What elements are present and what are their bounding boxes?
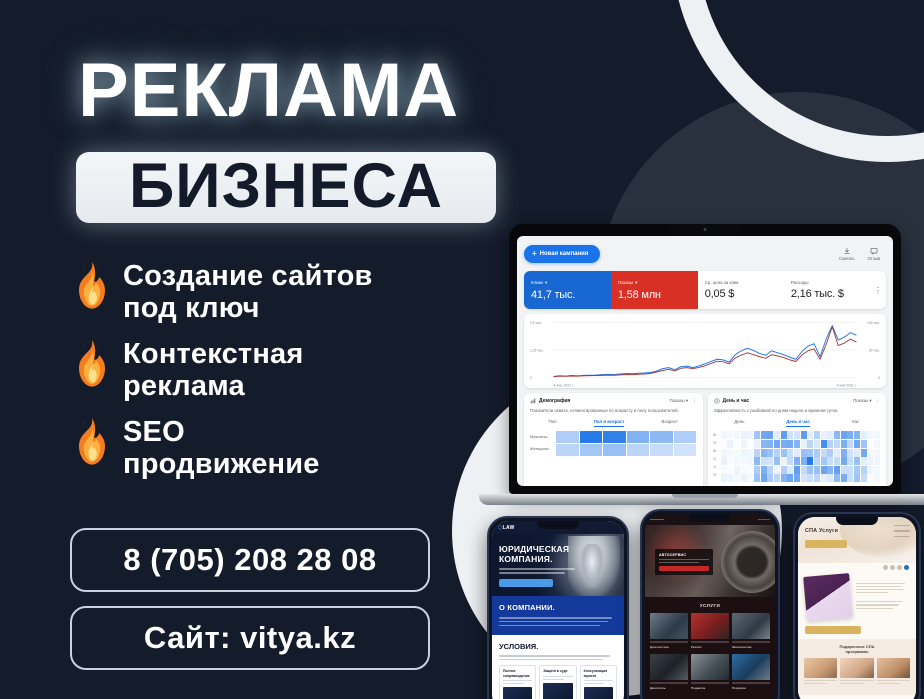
- heatmap-cell[interactable]: [767, 440, 773, 448]
- heatmap-cell[interactable]: [874, 457, 880, 465]
- heatmap-row-label: В: [714, 447, 721, 455]
- heatmap-cell[interactable]: [767, 431, 773, 439]
- heatmap-row: [721, 474, 881, 482]
- law-site-screen: ⬡LAW ЮРИДИЧЕСКАЯКОМПАНИЯ. О КОМПАНИИ. УС…: [492, 521, 624, 699]
- heatmap-cell[interactable]: [814, 449, 820, 457]
- feature-item-contextual-ads: Контекстнаяреклама: [70, 336, 490, 403]
- download-button[interactable]: Скачать: [839, 247, 855, 261]
- heatmap-cell[interactable]: [734, 466, 740, 474]
- heatmap-cell[interactable]: [834, 457, 840, 465]
- demographics-grid: Мужчины Женщины: [530, 431, 697, 457]
- heatmap-cell[interactable]: [861, 440, 867, 448]
- heatmap-cell[interactable]: [801, 431, 807, 439]
- auto-site-hero-button[interactable]: [659, 566, 709, 571]
- auto-site-tile[interactable]: Ремонт: [691, 613, 729, 649]
- heatmap-cell[interactable]: [721, 440, 727, 448]
- heatmap-row-labels: ВПВСЧП: [714, 431, 721, 483]
- law-site-card-title: Защита в суде: [543, 669, 572, 673]
- heatmap-cell[interactable]: [727, 440, 733, 448]
- law-site-logo: ⬡LAW: [498, 525, 515, 531]
- heatmap-cell[interactable]: [774, 449, 780, 457]
- heatmap-cell[interactable]: [814, 474, 820, 482]
- heatmap-cell[interactable]: [854, 457, 860, 465]
- heatmap-cell[interactable]: [781, 457, 787, 465]
- heatmap-cell[interactable]: [801, 457, 807, 465]
- spa-site-screen: СПА Услуги: [798, 517, 916, 699]
- heatmap-cell[interactable]: [821, 440, 827, 448]
- heatmap-cell[interactable]: [774, 457, 780, 465]
- heatmap-cell[interactable]: [767, 466, 773, 474]
- heatmap-cell[interactable]: [781, 431, 787, 439]
- heatmap-cell[interactable]: [794, 457, 800, 465]
- phone-body: СПА Услуги: [793, 512, 921, 699]
- auto-site-tile[interactable]: Шиномонтаж: [732, 613, 770, 649]
- auto-site-tile-row: Диагностика Ремонт Шиномонтаж: [650, 613, 770, 649]
- heatmap-cell[interactable]: [861, 474, 867, 482]
- kpi-card-row: Клики▾ 41,7 тыс. Показы▾ 1,58 млн Ср. це…: [524, 271, 886, 309]
- demographics-cell[interactable]: [580, 431, 603, 443]
- heatmap-cell[interactable]: [814, 466, 820, 474]
- social-icon[interactable]: [897, 565, 902, 570]
- demographics-cell[interactable]: [650, 431, 673, 443]
- tab-age[interactable]: Возраст: [662, 419, 678, 427]
- law-site-hero-subtext: [499, 568, 617, 574]
- panel-demographics-controls: Показы ▾ ⋮: [669, 398, 696, 404]
- demographics-cell[interactable]: [674, 444, 697, 456]
- heatmap-cell[interactable]: [741, 440, 747, 448]
- heatmap-cell[interactable]: [874, 449, 880, 457]
- heatmap-cell[interactable]: [761, 457, 767, 465]
- laptop-mockup: + Новая кампания Скачать: [509, 224, 924, 505]
- law-site-conditions-text: [499, 655, 617, 660]
- heatmap-cell[interactable]: [847, 466, 853, 474]
- heatmap-row: [721, 466, 881, 474]
- spa-site-tile[interactable]: [840, 658, 873, 690]
- phone-button[interactable]: 8 (705) 208 28 08: [70, 528, 430, 592]
- kpi-more-button[interactable]: ⋮: [870, 271, 886, 309]
- line-chart-card: 2,5 тыс.1,25 тыс.0100 тыс.50 тыс.04 янв.…: [524, 314, 886, 388]
- demographics-cells: [556, 431, 697, 457]
- heatmap-row: [721, 440, 881, 448]
- heatmap-cell[interactable]: [854, 431, 860, 439]
- law-site-hero-title: ЮРИДИЧЕСКАЯКОМПАНИЯ.: [499, 544, 617, 564]
- heatmap-cell[interactable]: [807, 474, 813, 482]
- heatmap-cell[interactable]: [727, 449, 733, 457]
- heatmap-cell[interactable]: [847, 449, 853, 457]
- heatmap-cell[interactable]: [794, 449, 800, 457]
- feature-item-seo: SEOпродвижение: [70, 414, 490, 481]
- heatmap-cell[interactable]: [761, 431, 767, 439]
- heatmap-cell[interactable]: [741, 466, 747, 474]
- phone-mockup-law: ⬡LAW ЮРИДИЧЕСКАЯКОМПАНИЯ. О КОМПАНИИ. УС…: [487, 516, 629, 699]
- dashboard-top-actions: Скачать Отзыв: [839, 247, 880, 261]
- demographics-cell[interactable]: [603, 431, 626, 443]
- auto-site-logo: [650, 519, 664, 521]
- heatmap-cell[interactable]: [761, 449, 767, 457]
- kpi-impressions[interactable]: Показы▾ 1,58 млн: [611, 271, 698, 309]
- left-content-column: РЕКЛАМА БИЗНЕСА Создание сайтовпод ключ: [0, 0, 500, 699]
- heatmap-cell[interactable]: [874, 466, 880, 474]
- heatmap-cell[interactable]: [761, 440, 767, 448]
- heatmap-cell[interactable]: [821, 466, 827, 474]
- heatmap-cell[interactable]: [847, 457, 853, 465]
- feature-label: Создание сайтовпод ключ: [123, 258, 373, 325]
- auto-site-tile-thumb: [691, 613, 729, 639]
- tab-day[interactable]: День: [734, 419, 744, 427]
- demographics-cell[interactable]: [556, 431, 579, 443]
- heatmap-cell[interactable]: [787, 449, 793, 457]
- heatmap-cell[interactable]: [787, 466, 793, 474]
- demographics-row: [556, 444, 697, 456]
- new-campaign-button[interactable]: + Новая кампания: [524, 245, 600, 263]
- panel-demographics-head: Демография Показы ▾ ⋮: [530, 398, 697, 404]
- heatmap-cell[interactable]: [847, 431, 853, 439]
- spa-feature-heading: [856, 577, 909, 581]
- auto-site-tile-label: Покраска: [732, 686, 770, 690]
- phone-number: 8 (705) 208 28 08: [123, 542, 376, 578]
- heatmap-cell[interactable]: [821, 474, 827, 482]
- tab-gender[interactable]: Пол: [549, 419, 557, 427]
- heatmap-cell[interactable]: [734, 431, 740, 439]
- heatmap-cell[interactable]: [841, 466, 847, 474]
- heatmap-cell[interactable]: [827, 431, 833, 439]
- svg-text:100 тыс.: 100 тыс.: [867, 321, 880, 325]
- phone-notch: [537, 521, 579, 529]
- laptop-lid: + Новая кампания Скачать: [509, 224, 901, 494]
- heatmap-cell[interactable]: [827, 449, 833, 457]
- heatmap-cell[interactable]: [754, 466, 760, 474]
- auto-site-section-title: УСЛУГИ: [650, 603, 770, 608]
- heatmap-cell[interactable]: [747, 449, 753, 457]
- heatmap-cell[interactable]: [781, 449, 787, 457]
- heatmap-cell[interactable]: [727, 431, 733, 439]
- phone-notch: [836, 517, 878, 525]
- heatmap-cell[interactable]: [827, 440, 833, 448]
- heatmap-cell[interactable]: [867, 457, 873, 465]
- heatmap-cell[interactable]: [874, 431, 880, 439]
- spa-site-hero-title: СПА Услуги: [805, 528, 909, 534]
- heatmap-cell[interactable]: [861, 457, 867, 465]
- heatmap-cell[interactable]: [747, 431, 753, 439]
- kpi-impressions-value: 1,58 млн: [618, 289, 691, 301]
- tab-gender-age[interactable]: Пол и возраст: [594, 419, 625, 427]
- heatmap-cell[interactable]: [747, 440, 753, 448]
- heatmap-cell[interactable]: [727, 474, 733, 482]
- heatmap-cell[interactable]: [787, 440, 793, 448]
- kpi-clicks[interactable]: Клики▾ 41,7 тыс.: [524, 271, 611, 309]
- heatmap-cell[interactable]: [761, 466, 767, 474]
- auto-site-tile-label: Двигатель: [650, 686, 688, 690]
- spa-site-tile-label: [840, 686, 873, 690]
- heatmap-cell[interactable]: [834, 466, 840, 474]
- heatmap-cell[interactable]: [781, 466, 787, 474]
- demographics-cell[interactable]: [556, 444, 579, 456]
- heatmap-cell[interactable]: [721, 474, 727, 482]
- heatmap-cell[interactable]: [841, 457, 847, 465]
- heatmap-cell[interactable]: [741, 449, 747, 457]
- heatmap-cell[interactable]: [801, 440, 807, 448]
- new-campaign-label: Новая кампания: [540, 251, 589, 257]
- download-icon: [843, 247, 851, 255]
- auto-site-hero: АВТОСЕРВИС: [645, 525, 775, 597]
- heatmap-cell[interactable]: [807, 457, 813, 465]
- heatmap-cell[interactable]: [767, 474, 773, 482]
- laptop-camera-icon: [704, 228, 707, 231]
- heatmap-cell[interactable]: [747, 466, 753, 474]
- heatmap-cell[interactable]: [754, 474, 760, 482]
- heatmap-cell[interactable]: [741, 474, 747, 482]
- heatmap-cell[interactable]: [721, 449, 727, 457]
- spa-site-secondary-button[interactable]: [805, 626, 861, 634]
- heatmap-cell[interactable]: [721, 457, 727, 465]
- heatmap-cell[interactable]: [727, 457, 733, 465]
- heatmap-cell[interactable]: [814, 457, 820, 465]
- heatmap-cell[interactable]: [761, 474, 767, 482]
- demographics-cell[interactable]: [650, 444, 673, 456]
- heatmap-cell[interactable]: [827, 466, 833, 474]
- kpi-avg-cpc-label: Ср. цена за клик: [705, 280, 777, 285]
- heatmap: ВПВСЧП: [714, 431, 881, 483]
- auto-site-tile[interactable]: Диагностика: [650, 613, 688, 649]
- svg-text:4 янв. 2021 г.: 4 янв. 2021 г.: [554, 383, 574, 387]
- auto-site-tile-thumb: [650, 613, 688, 639]
- laptop-base-notch: [672, 494, 738, 498]
- heatmap-cell[interactable]: [807, 466, 813, 474]
- panel-demographics-title-row: Демография: [530, 398, 570, 404]
- auto-site-tile-label: Подвеска: [691, 686, 729, 690]
- social-icon[interactable]: [904, 565, 909, 570]
- site-url: Сайт: vitya.kz: [144, 620, 356, 656]
- auto-site-tile[interactable]: Покраска: [732, 654, 770, 690]
- heatmap-cell[interactable]: [747, 474, 753, 482]
- auto-site-tile[interactable]: Подвеска: [691, 654, 729, 690]
- heatmap-cell[interactable]: [854, 449, 860, 457]
- heatmap-cell[interactable]: [847, 474, 853, 482]
- auto-site-tile-thumb: [732, 613, 770, 639]
- heatmap-cell[interactable]: [787, 431, 793, 439]
- heatmap-cell[interactable]: [834, 449, 840, 457]
- heatmap-cell[interactable]: [754, 440, 760, 448]
- laptop-base: [479, 494, 924, 505]
- law-site-card-list: Полное сопровождение Защита в суде Консу…: [499, 665, 617, 699]
- panel-day-hour-title: День и час: [723, 398, 750, 404]
- spa-site-tile-label: [804, 686, 837, 690]
- social-icon[interactable]: [890, 565, 895, 570]
- heatmap-cell[interactable]: [861, 466, 867, 474]
- auto-site-tile-label: Диагностика: [650, 645, 688, 649]
- heatmap-cell[interactable]: [841, 474, 847, 482]
- panel-day-hour-more[interactable]: ⋮: [876, 398, 880, 404]
- heatmap-cell[interactable]: [861, 431, 867, 439]
- heatmap-cell[interactable]: [854, 466, 860, 474]
- heatmap-cell[interactable]: [741, 457, 747, 465]
- heatmap-cell[interactable]: [794, 431, 800, 439]
- law-site-about-title: О КОМПАНИИ.: [499, 603, 617, 612]
- heatmap-cell[interactable]: [787, 474, 793, 482]
- heatmap-cell[interactable]: [807, 449, 813, 457]
- heatmap-row-label: П: [714, 471, 721, 479]
- panel-day-hour-metric[interactable]: Показы ▾: [853, 398, 872, 404]
- auto-site-tile-row: Двигатель Подвеска Покраска: [650, 654, 770, 690]
- heatmap-cell[interactable]: [721, 431, 727, 439]
- auto-site-tile-label: Ремонт: [691, 645, 729, 649]
- heatmap-cell[interactable]: [734, 457, 740, 465]
- page-title-line1: РЕКЛАМА: [78, 53, 459, 129]
- demographics-row-label: Мужчины: [530, 431, 556, 443]
- feature-label: Контекстнаяреклама: [123, 336, 304, 403]
- law-site-card-thumb: [543, 683, 572, 699]
- heatmap-cell[interactable]: [801, 474, 807, 482]
- law-site-conditions-title: УСЛОВИЯ.: [499, 642, 617, 651]
- spa-feature-heading: [856, 595, 909, 599]
- heatmap-cell[interactable]: [754, 457, 760, 465]
- panel-demographics: Демография Показы ▾ ⋮ Показатели охвата,…: [524, 393, 703, 486]
- heatmap-cells: [721, 431, 881, 483]
- page-title-line2: БИЗНЕСА: [129, 155, 443, 221]
- heatmap-cell[interactable]: [734, 440, 740, 448]
- panel-day-hour-head: День и час Показы ▾ ⋮: [714, 398, 881, 404]
- ads-dashboard: + Новая кампания Скачать: [517, 236, 893, 486]
- law-site-card[interactable]: Консультация юриста: [580, 665, 617, 699]
- heatmap-cell[interactable]: [754, 431, 760, 439]
- panel-day-hour-description: Эффективность с разбивкой по дням недели…: [714, 408, 881, 414]
- heatmap-cell[interactable]: [821, 431, 827, 439]
- kpi-cost-label: Расходы: [791, 280, 863, 285]
- heatmap-cell[interactable]: [827, 457, 833, 465]
- heatmap-cell[interactable]: [821, 449, 827, 457]
- heatmap-cell[interactable]: [781, 440, 787, 448]
- law-site-hero: ЮРИДИЧЕСКАЯКОМПАНИЯ.: [492, 534, 624, 596]
- heatmap-cell[interactable]: [774, 466, 780, 474]
- spa-site-hero-button[interactable]: [805, 540, 847, 548]
- heatmap-cell[interactable]: [861, 449, 867, 457]
- phone-mockup-auto: АВТОСЕРВИС УСЛУГИ Диагностика Ремонт Шин…: [640, 509, 780, 699]
- svg-text:0: 0: [530, 376, 532, 380]
- heatmap-cell[interactable]: [814, 431, 820, 439]
- heatmap-cell[interactable]: [834, 431, 840, 439]
- panel-demographics-more[interactable]: ⋮: [692, 398, 696, 404]
- heatmap-cell[interactable]: [747, 457, 753, 465]
- heatmap-cell[interactable]: [841, 431, 847, 439]
- fire-icon: [70, 260, 114, 312]
- kpi-avg-cpc: Ср. цена за клик 0,05 $: [698, 271, 784, 309]
- heatmap-row: [721, 431, 881, 439]
- heatmap-cell[interactable]: [794, 440, 800, 448]
- heatmap-cell[interactable]: [841, 440, 847, 448]
- heatmap-cell[interactable]: [807, 440, 813, 448]
- law-site-card-thumb: [503, 687, 532, 699]
- law-site-hero-button[interactable]: [499, 579, 553, 587]
- heatmap-cell[interactable]: [767, 457, 773, 465]
- heatmap-cell[interactable]: [867, 440, 873, 448]
- heatmap-cell[interactable]: [774, 474, 780, 482]
- auto-site-tile[interactable]: Двигатель: [650, 654, 688, 690]
- heatmap-cell[interactable]: [827, 474, 833, 482]
- heatmap-cell[interactable]: [774, 431, 780, 439]
- heatmap-cell[interactable]: [807, 431, 813, 439]
- spa-site-social-icons[interactable]: [798, 563, 916, 570]
- heatmap-cell[interactable]: [754, 449, 760, 457]
- panel-demographics-title: Демография: [539, 398, 570, 404]
- spa-site-tile[interactable]: [877, 658, 910, 690]
- demographics-cell[interactable]: [627, 444, 650, 456]
- heatmap-cell[interactable]: [721, 466, 727, 474]
- law-site-card[interactable]: Защита в суде: [539, 665, 576, 699]
- heatmap-cell[interactable]: [741, 431, 747, 439]
- heatmap-cell[interactable]: [874, 440, 880, 448]
- heatmap-cell[interactable]: [821, 457, 827, 465]
- feature-item-websites: Создание сайтовпод ключ: [70, 258, 490, 325]
- feature-list: Создание сайтовпод ключ Контекстнаярекла…: [70, 258, 490, 492]
- heatmap-cell[interactable]: [814, 440, 820, 448]
- heatmap-cell[interactable]: [794, 466, 800, 474]
- spa-site-tile[interactable]: [804, 658, 837, 690]
- law-site-card[interactable]: Полное сопровождение: [499, 665, 536, 699]
- heatmap-cell[interactable]: [727, 466, 733, 474]
- auto-site-nav-cta[interactable]: [758, 519, 770, 521]
- feedback-icon: [870, 247, 878, 255]
- heatmap-cell[interactable]: [854, 440, 860, 448]
- kpi-clicks-label: Клики▾: [531, 280, 604, 286]
- heatmap-cell[interactable]: [801, 449, 807, 457]
- svg-text:1,25 тыс.: 1,25 тыс.: [530, 348, 544, 352]
- heatmap-cell[interactable]: [874, 474, 880, 482]
- demographics-cell[interactable]: [627, 431, 650, 443]
- social-icon[interactable]: [883, 565, 888, 570]
- heatmap-cell[interactable]: [834, 440, 840, 448]
- heatmap-cell[interactable]: [834, 474, 840, 482]
- phone-body: АВТОСЕРВИС УСЛУГИ Диагностика Ремонт Шин…: [640, 509, 780, 699]
- kpi-cost-value: 2,16 тыс. $: [791, 288, 863, 300]
- feedback-button[interactable]: Отзыв: [868, 247, 880, 261]
- poster-root: + Новая кампания Скачать: [0, 0, 924, 699]
- kpi-clicks-value: 41,7 тыс.: [531, 289, 604, 301]
- chevron-down-icon: ▾: [545, 280, 547, 286]
- heatmap-cell[interactable]: [867, 431, 873, 439]
- heatmap-cell[interactable]: [734, 474, 740, 482]
- spa-site-tile-thumb: [804, 658, 837, 678]
- site-button[interactable]: Сайт: vitya.kz: [70, 606, 430, 670]
- spa-site-section-title: Подарочные СПАпрограммы: [804, 644, 910, 654]
- heatmap-cell[interactable]: [854, 474, 860, 482]
- demographics-cell[interactable]: [603, 444, 626, 456]
- demographics-cell[interactable]: [674, 431, 697, 443]
- heatmap-cell[interactable]: [767, 449, 773, 457]
- heatmap-cell[interactable]: [867, 466, 873, 474]
- auto-site-tile-thumb: [650, 654, 688, 680]
- law-site-conditions-section: УСЛОВИЯ. Полное сопровождение Защита в с…: [492, 635, 624, 699]
- heatmap-cell[interactable]: [787, 457, 793, 465]
- heatmap-cell[interactable]: [794, 474, 800, 482]
- heatmap-cell[interactable]: [841, 449, 847, 457]
- panel-demographics-metric[interactable]: Показы ▾: [669, 398, 688, 404]
- demographics-row-labels: Мужчины Женщины: [530, 431, 556, 457]
- heatmap-cell[interactable]: [801, 466, 807, 474]
- tab-hour[interactable]: Час: [852, 419, 860, 427]
- auto-site-services-section: УСЛУГИ Диагностика Ремонт Шиномонтаж Дви…: [645, 597, 775, 699]
- feedback-label: Отзыв: [868, 256, 880, 261]
- kpi-impressions-label: Показы▾: [618, 280, 691, 286]
- heatmap-cell[interactable]: [867, 449, 873, 457]
- demographics-cell[interactable]: [580, 444, 603, 456]
- heatmap-cell[interactable]: [847, 440, 853, 448]
- heatmap-cell[interactable]: [867, 474, 873, 482]
- heatmap-cell[interactable]: [774, 440, 780, 448]
- heatmap-cell[interactable]: [781, 474, 787, 482]
- tab-day-hour[interactable]: День и час: [786, 419, 810, 427]
- heatmap-cell[interactable]: [734, 449, 740, 457]
- panel-demographics-description: Показатели охвата, сегментированные по в…: [530, 408, 697, 414]
